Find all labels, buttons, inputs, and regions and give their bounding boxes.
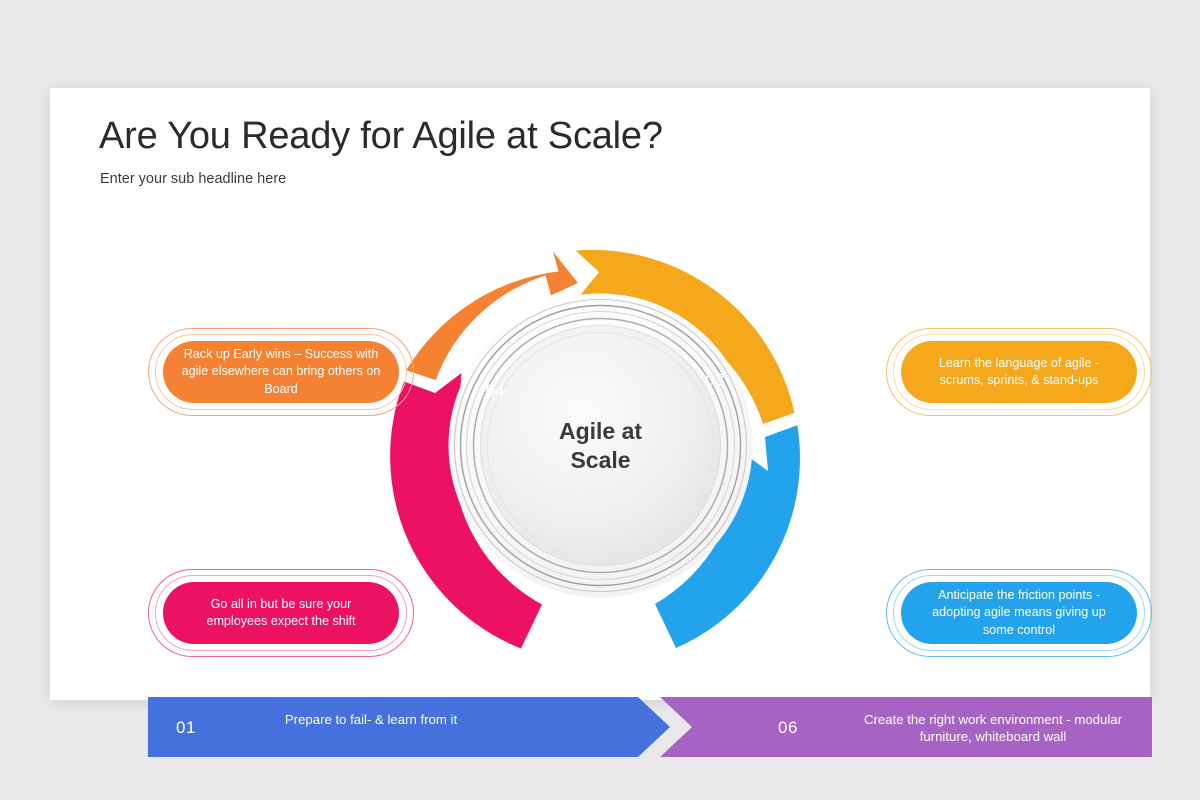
bottom-arrow-bars: 01 Prepare to fail- & learn from it 06 C… (148, 697, 1152, 757)
slide-canvas: Are You Ready for Agile at Scale? Enter … (50, 88, 1150, 700)
hub-inner-disc (481, 326, 721, 566)
wheel-svg: 04 03 02 05 (373, 218, 828, 673)
callout-05[interactable]: Go all in but be sure your employees exp… (148, 569, 414, 657)
segment-05-number: 05 (421, 605, 440, 624)
callout-02-pill[interactable]: Anticipate the friction points - adoptin… (901, 582, 1137, 644)
bar-06-shape[interactable] (660, 697, 1152, 757)
callout-04-pill[interactable]: Rack up Early wins – Success with agile … (163, 341, 399, 403)
callout-04[interactable]: Rack up Early wins – Success with agile … (148, 328, 414, 416)
agile-cycle-wheel: 04 03 02 05 Agile at Scale (373, 218, 828, 673)
segment-03-number: 03 (706, 370, 725, 389)
callout-05-pill[interactable]: Go all in but be sure your employees exp… (163, 582, 399, 644)
segment-02-number: 02 (770, 605, 789, 624)
page-title: Are You Ready for Agile at Scale? (99, 115, 663, 158)
bar-01-shape[interactable] (148, 697, 670, 757)
callout-02[interactable]: Anticipate the friction points - adoptin… (886, 569, 1152, 657)
bars-svg (148, 697, 1152, 757)
callout-03-text: Learn the language of agile - scrums, sp… (917, 355, 1121, 389)
callout-04-text: Rack up Early wins – Success with agile … (179, 346, 383, 397)
callout-03-pill[interactable]: Learn the language of agile - scrums, sp… (901, 341, 1137, 403)
callout-03[interactable]: Learn the language of agile - scrums, sp… (886, 328, 1152, 416)
segment-04-number: 04 (486, 381, 505, 400)
page-subtitle: Enter your sub headline here (100, 171, 286, 187)
callout-02-text: Anticipate the friction points - adoptin… (917, 587, 1121, 638)
callout-05-text: Go all in but be sure your employees exp… (179, 596, 383, 630)
